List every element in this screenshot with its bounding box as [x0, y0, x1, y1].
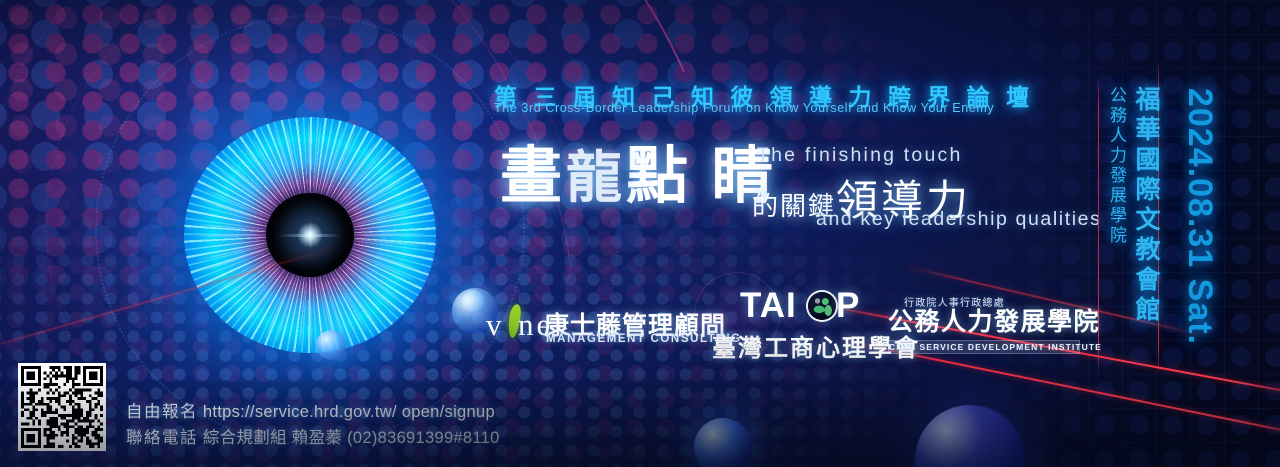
decor-sphere-3	[316, 330, 346, 360]
grid-pattern-right	[0, 0, 1280, 467]
decor-sphere-1	[694, 418, 752, 467]
decor-laser-4	[0, 248, 333, 354]
eye-iris-rays	[184, 117, 436, 353]
signup-label: 自由報名	[126, 403, 198, 421]
decor-arc-1	[0, 0, 883, 467]
eye-graphic	[140, 100, 480, 370]
eye-iris-rays-inner	[186, 118, 433, 352]
event-institute: 公務人力發展學院	[1104, 86, 1129, 246]
event-venue: 福華國際文教會館	[1128, 86, 1164, 326]
decor-arc-5	[0, 0, 876, 467]
contact-person: 賴盈蓁	[292, 429, 342, 447]
particle-field-lower	[0, 0, 1280, 467]
headline-char-hua: 畫	[500, 143, 566, 211]
event-date: 2024.08.31 Sat.	[1180, 88, 1219, 345]
eye-iris	[184, 117, 436, 353]
particle-field-upper	[0, 0, 1280, 467]
signup-url[interactable]: https://service.hrd.gov.tw/ open/signup	[203, 403, 495, 421]
eye-outer-glow	[145, 101, 475, 369]
eye-pupil	[266, 193, 354, 277]
decor-arc-2	[0, 0, 748, 467]
contact-info: 聯絡電話 綜合規劃組 賴盈蓁 (02)83691399#8110	[126, 424, 500, 448]
qr-canvas	[21, 366, 103, 448]
contact-phone: (02)83691399#8110	[347, 429, 500, 447]
signup-info: 自由報名 https://service.hrd.gov.tw/ open/si…	[126, 398, 495, 422]
contact-department: 綜合規劃組	[203, 429, 287, 447]
forum-subtitle-en: The 3rd Cross-Border Leadership Forum on…	[494, 101, 994, 115]
headline-en-top: The finishing touch	[757, 144, 962, 167]
headline-en-bottom: and key leadership qualities	[816, 208, 1101, 231]
csdi-parent-org: 行政院人事行政總處	[904, 294, 1080, 309]
csdi-name-en: CIVIL SERVICE DEVELOPMENT INSTITUTE	[888, 340, 1080, 354]
taiop-wordmark-right: P	[836, 286, 860, 326]
taiop-wordmark-left: TAI	[740, 286, 797, 326]
eye-glint	[235, 160, 385, 310]
vignette-overlay	[0, 0, 1280, 467]
phone-label: 聯絡電話	[126, 429, 198, 447]
decor-sphere-2	[915, 405, 1025, 467]
logo-csdi: 行政院人事行政總處 公務人力發展學院 CIVIL SERVICE DEVELOP…	[888, 294, 1080, 354]
particle-field-corner	[0, 0, 1280, 467]
globe-icon	[808, 292, 836, 320]
event-banner: 第 三 屆 知 己 知 彼 領 導 力 跨 界 論 壇 The 3rd Cros…	[0, 0, 1280, 467]
headline-char-dragon: 龍	[566, 148, 626, 210]
qr-code-icon[interactable]	[18, 363, 106, 451]
decor-arc-3	[0, 0, 964, 467]
vine-wordmark-v: v	[486, 307, 505, 343]
csdi-name-cn: 公務人力發展學院	[888, 309, 1080, 338]
headline-main-cn: 畫龍點 睛	[500, 146, 778, 208]
eye-halo-ring-1	[39, 0, 581, 467]
